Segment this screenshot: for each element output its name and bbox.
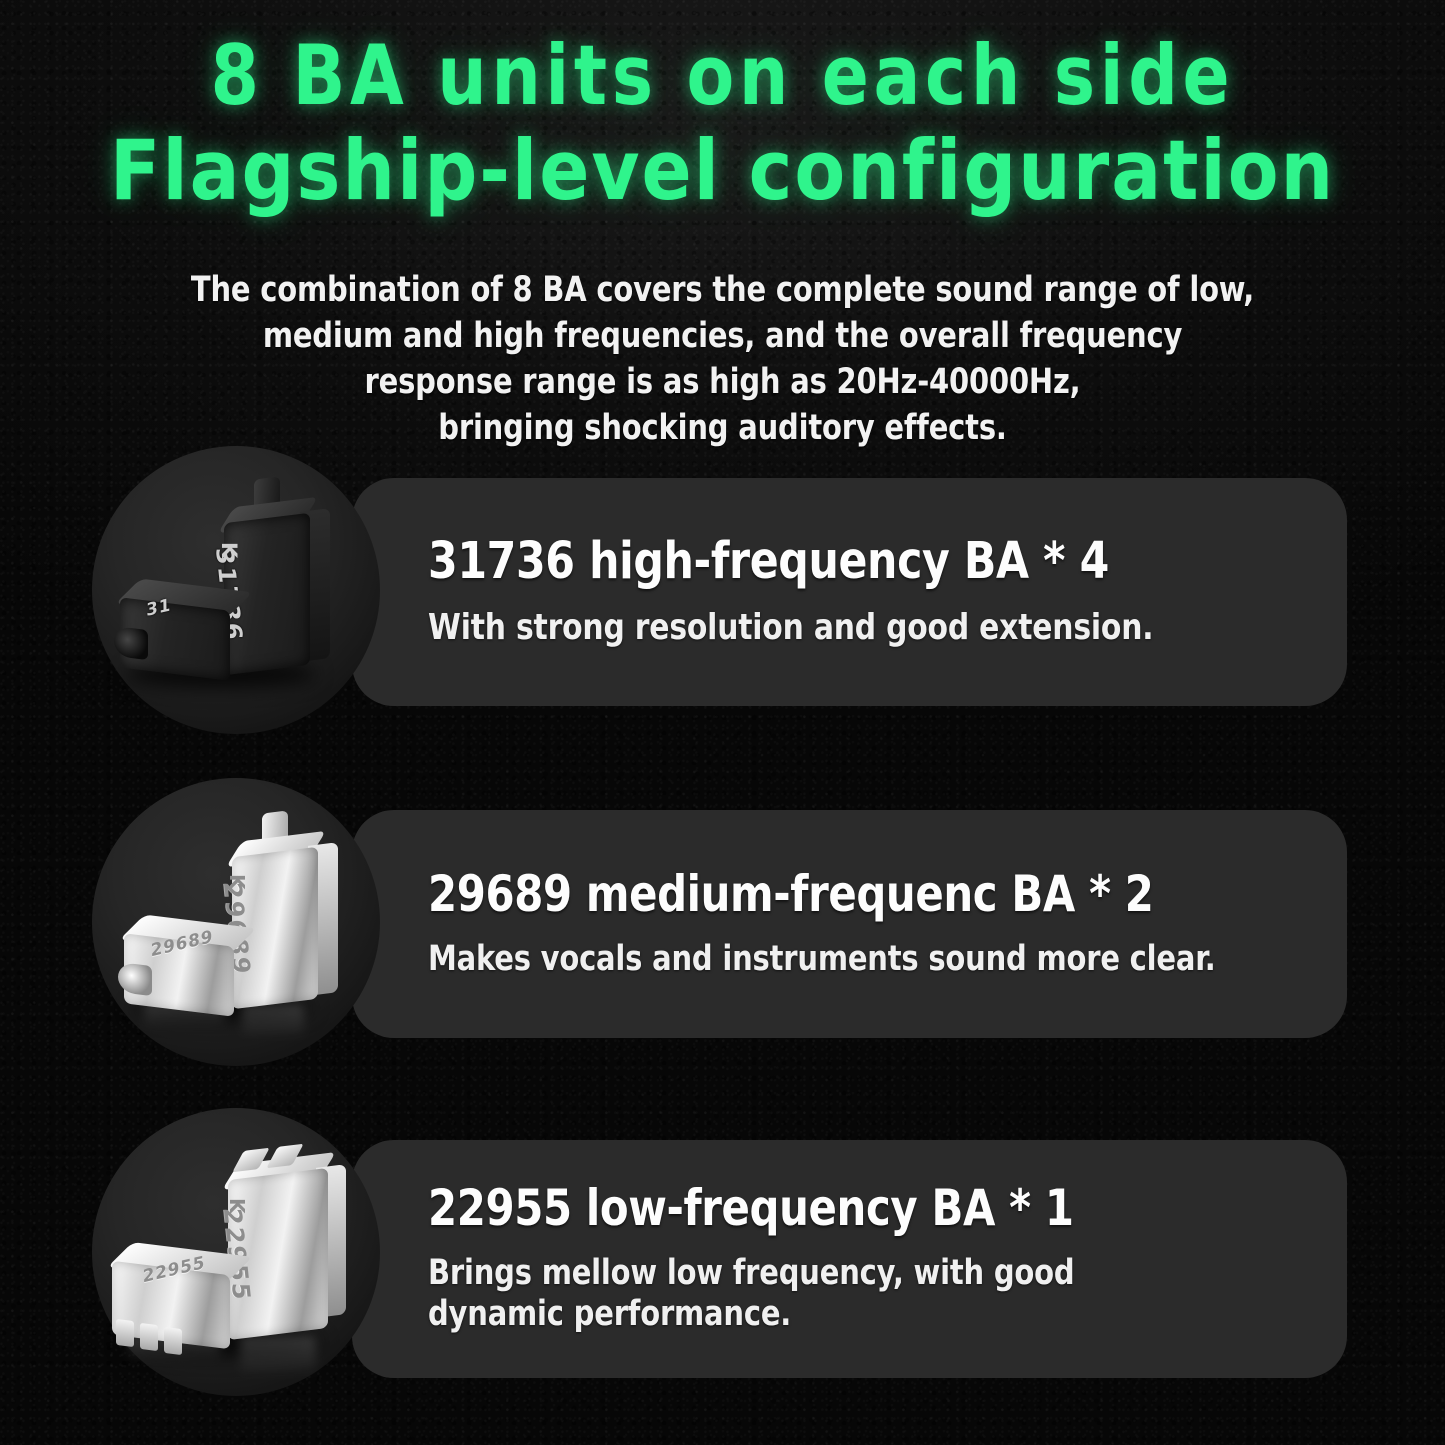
feature-thumbnail-high-frequency: 31736 K 31 — [92, 446, 380, 734]
headline: 8 BA units on each side Flagship-level c… — [0, 34, 1445, 213]
ba-driver-illustration-22955: 22955 K 22955 — [92, 1108, 380, 1396]
feature-description: Brings mellow low frequency, with good d… — [428, 1253, 1237, 1336]
ba-driver-illustration-29689: 29689 K 29689 — [92, 778, 380, 1066]
brand-logo-icon: K — [225, 874, 249, 890]
feature-title: 29689 medium-frequenc BA * 2 — [428, 868, 1245, 921]
feature-card-high-frequency[interactable]: 31736 high-frequency BA * 4 With strong … — [352, 478, 1347, 706]
feature-row-high-frequency: 31736 high-frequency BA * 4 With strong … — [0, 440, 1445, 740]
intro-paragraph: The combination of 8 BA covers the compl… — [168, 268, 1277, 451]
ba-unit-flat: 31 — [120, 594, 248, 676]
driver-contact-pin — [116, 1319, 134, 1347]
intro-line-4: bringing shocking auditory effects. — [168, 406, 1277, 452]
feature-card-text: 31736 high-frequency BA * 4 With strong … — [428, 478, 1307, 706]
brand-logo-icon: K — [217, 542, 241, 558]
feature-title: 31736 high-frequency BA * 4 — [428, 535, 1245, 589]
intro-line-2: medium and high frequencies, and the ove… — [168, 314, 1277, 360]
feature-card-text: 22955 low-frequency BA * 1 Brings mellow… — [428, 1140, 1307, 1378]
feature-description: Makes vocals and instruments sound more … — [428, 939, 1237, 980]
ba-driver-illustration-31736: 31736 K 31 — [92, 446, 380, 734]
feature-row-low-frequency: 22955 low-frequency BA * 1 Brings mellow… — [0, 1102, 1445, 1402]
intro-line-1: The combination of 8 BA covers the compl… — [168, 268, 1277, 314]
ba-unit-flat: 29689 — [124, 930, 252, 1012]
driver-reflection — [240, 1336, 316, 1376]
infographic-page: 8 BA units on each side Flagship-level c… — [0, 0, 1445, 1445]
feature-title: 22955 low-frequency BA * 1 — [428, 1182, 1245, 1235]
brand-logo-icon: K — [225, 1198, 249, 1214]
feature-description-line-2: dynamic performance. — [428, 1294, 1237, 1335]
feature-row-medium-frequency: 29689 medium-frequenc BA * 2 Makes vocal… — [0, 772, 1445, 1072]
headline-line-1: 8 BA units on each side — [51, 34, 1395, 119]
driver-contact-pin — [140, 1323, 158, 1351]
headline-line-2: Flagship-level configuration — [7, 129, 1438, 214]
driver-contact-pin — [164, 1327, 182, 1355]
feature-card-low-frequency[interactable]: 22955 low-frequency BA * 1 Brings mellow… — [352, 1140, 1347, 1378]
feature-description: With strong resolution and good extensio… — [428, 607, 1237, 649]
feature-thumbnail-medium-frequency: 29689 K 29689 — [92, 778, 380, 1066]
feature-thumbnail-low-frequency: 22955 K 22955 — [92, 1108, 380, 1396]
feature-card-medium-frequency[interactable]: 29689 medium-frequenc BA * 2 Makes vocal… — [352, 810, 1347, 1038]
feature-description-line-1: Brings mellow low frequency, with good — [428, 1253, 1237, 1294]
intro-line-3: response range is as high as 20Hz-40000H… — [168, 360, 1277, 406]
feature-card-text: 29689 medium-frequenc BA * 2 Makes vocal… — [428, 810, 1307, 1038]
ba-unit-flat: 22955 — [112, 1258, 252, 1340]
